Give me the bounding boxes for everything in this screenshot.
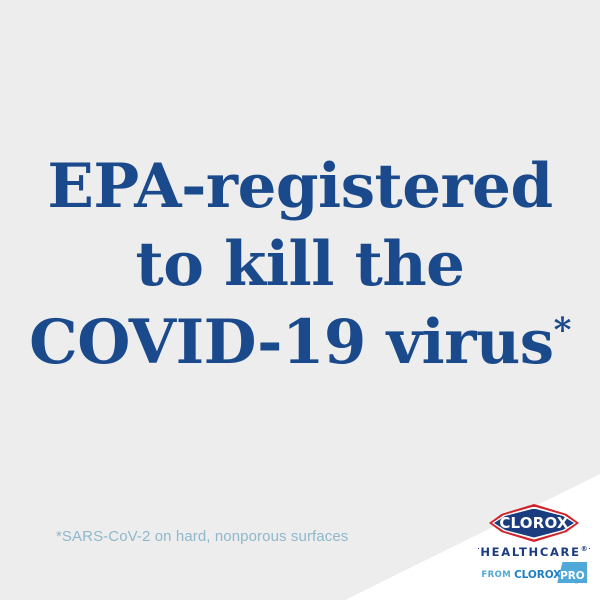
- headline-line-3: COVID-19 virus*: [0, 304, 600, 382]
- clorox-healthcare-logo: CLOROX HEALTHCARE® FROM CLOROX PRO ®: [478, 504, 590, 586]
- divider-line-right: [589, 548, 590, 549]
- promotional-poster: EPA-registered to kill the COVID-19 viru…: [0, 0, 600, 600]
- from-cloroxpro-row: FROM CLOROX PRO ®: [478, 566, 590, 586]
- headline-line-2: to kill the: [0, 226, 600, 304]
- from-label: FROM: [481, 570, 511, 580]
- from-cloroxpro-inner: FROM CLOROX PRO ®: [481, 566, 586, 584]
- cloroxpro-clorox-label: CLOROX: [514, 569, 561, 581]
- page-title: EPA-registered to kill the COVID-19 viru…: [0, 148, 600, 382]
- clorox-wordmark: CLOROX: [489, 514, 579, 532]
- footnote-text: *SARS-CoV-2 on hard, nonporous surfaces: [56, 528, 348, 545]
- cloroxpro-pro-label: PRO: [560, 570, 586, 582]
- footnote-asterisk-marker: *: [554, 311, 571, 351]
- headline-line-3-text: COVID-19 virus: [29, 307, 553, 378]
- clorox-diamond-icon: CLOROX: [489, 504, 579, 542]
- healthcare-division-row: HEALTHCARE®: [478, 545, 590, 559]
- headline-line-1: EPA-registered: [0, 148, 600, 226]
- registered-mark-icon: ®: [581, 545, 588, 553]
- cloroxpro-pro-badge: PRO ®: [560, 566, 586, 584]
- healthcare-wordmark: HEALTHCARE®: [479, 545, 588, 559]
- healthcare-label: HEALTHCARE: [480, 545, 580, 559]
